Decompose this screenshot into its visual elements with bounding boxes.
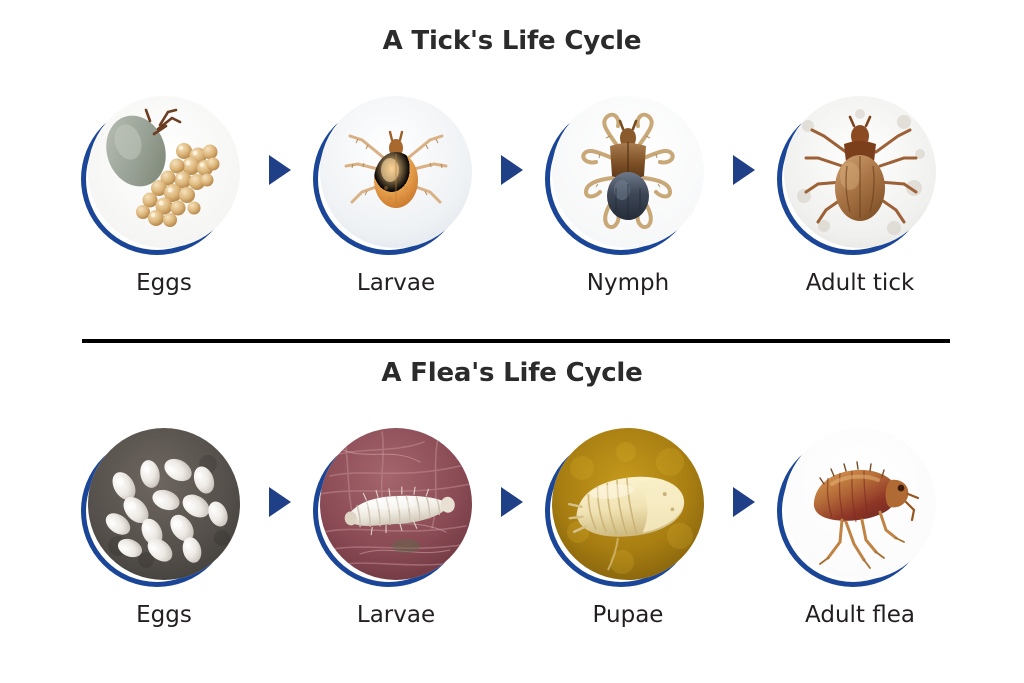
tick-eggs-photo bbox=[88, 96, 240, 248]
tick-larva-photo-wrap bbox=[320, 96, 472, 248]
flea-adult-photo bbox=[784, 428, 936, 580]
tick-nymph-photo-wrap bbox=[552, 96, 704, 248]
flea-section-title: A Flea's Life Cycle bbox=[0, 358, 1024, 388]
stage-flea-adult[interactable]: Adult flea bbox=[780, 428, 940, 628]
arrow-cell bbox=[476, 96, 548, 244]
stage-label-flea-eggs: Eggs bbox=[136, 602, 192, 628]
stage-tick-eggs[interactable]: Eggs bbox=[84, 96, 244, 296]
arrow-cell bbox=[244, 96, 316, 244]
triangle-right-icon bbox=[501, 155, 523, 185]
stage-tick-larvae[interactable]: Larvae bbox=[316, 96, 476, 296]
stage-flea-eggs[interactable]: Eggs bbox=[84, 428, 244, 628]
arrow-cell bbox=[708, 428, 780, 576]
tick-stage-row: Eggs bbox=[0, 96, 1024, 306]
flea-eggs-photo bbox=[88, 428, 240, 580]
tick-adult-photo-wrap bbox=[784, 96, 936, 248]
triangle-right-icon bbox=[733, 155, 755, 185]
arrow-cell bbox=[708, 96, 780, 244]
stage-tick-adult[interactable]: Adult tick bbox=[780, 96, 940, 296]
flea-larva-photo bbox=[320, 428, 472, 580]
stage-label-tick-eggs: Eggs bbox=[136, 270, 192, 296]
flea-pupa-photo bbox=[552, 428, 704, 580]
triangle-right-icon bbox=[501, 487, 523, 517]
flea-adult-photo-wrap bbox=[784, 428, 936, 580]
flea-larva-photo-wrap bbox=[320, 428, 472, 580]
flea-pupa-photo-wrap bbox=[552, 428, 704, 580]
stage-label-flea-adult: Adult flea bbox=[805, 602, 915, 628]
stage-label-tick-nymph: Nymph bbox=[587, 270, 669, 296]
tick-larva-photo bbox=[320, 96, 472, 248]
tick-nymph-photo bbox=[552, 96, 704, 248]
stage-label-tick-adult: Adult tick bbox=[806, 270, 915, 296]
triangle-right-icon bbox=[269, 155, 291, 185]
arrow-cell bbox=[476, 428, 548, 576]
triangle-right-icon bbox=[733, 487, 755, 517]
tick-adult-photo bbox=[784, 96, 936, 248]
flea-stage-row: Eggs bbox=[0, 428, 1024, 638]
infographic-canvas: A Tick's Life Cycle bbox=[0, 0, 1024, 683]
triangle-right-icon bbox=[269, 487, 291, 517]
stage-label-tick-larvae: Larvae bbox=[357, 270, 435, 296]
stage-label-flea-larvae: Larvae bbox=[357, 602, 435, 628]
section-divider bbox=[82, 339, 950, 343]
stage-label-flea-pupae: Pupae bbox=[593, 602, 664, 628]
flea-eggs-photo-wrap bbox=[88, 428, 240, 580]
stage-flea-pupae[interactable]: Pupae bbox=[548, 428, 708, 628]
stage-flea-larvae[interactable]: Larvae bbox=[316, 428, 476, 628]
tick-eggs-photo-wrap bbox=[88, 96, 240, 248]
tick-section-title: A Tick's Life Cycle bbox=[0, 26, 1024, 56]
arrow-cell bbox=[244, 428, 316, 576]
stage-tick-nymph[interactable]: Nymph bbox=[548, 96, 708, 296]
